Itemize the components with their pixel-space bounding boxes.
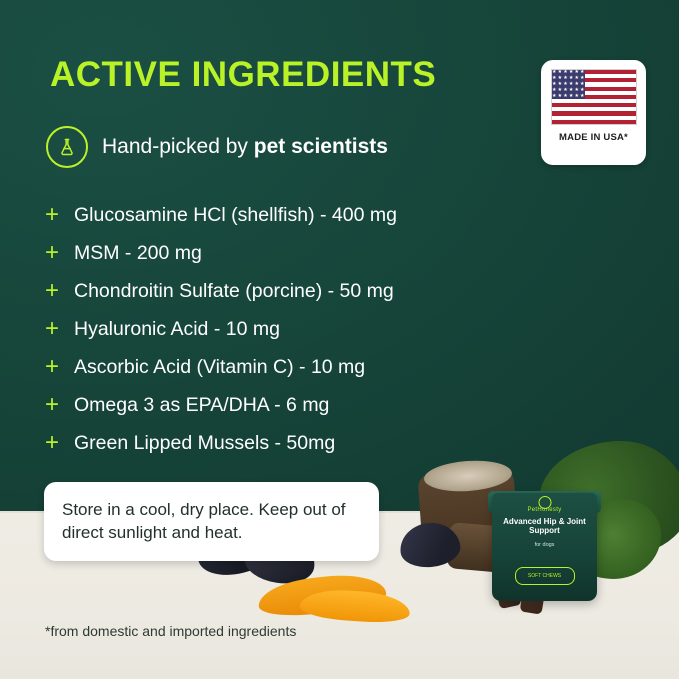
ingredient-text: Green Lipped Mussels - 50mg: [74, 432, 335, 455]
ingredient-text: Glucosamine HCl (shellfish) - 400 mg: [74, 204, 397, 227]
page-title: ACTIVE INGREDIENTS: [50, 55, 436, 95]
list-item: + Chondroitin Sulfate (porcine) - 50 mg: [44, 272, 604, 310]
jar-product-title: Advanced Hip & Joint Support: [492, 517, 597, 535]
plus-icon: +: [44, 241, 60, 265]
ingredient-text: Ascorbic Acid (Vitamin C) - 10 mg: [74, 356, 365, 379]
plus-icon: +: [44, 355, 60, 379]
ingredient-list: + Glucosamine HCl (shellfish) - 400 mg +…: [44, 196, 604, 462]
ingredient-text: MSM - 200 mg: [74, 242, 202, 265]
footnote-text: *from domestic and imported ingredients: [45, 623, 296, 639]
subtitle-text: Hand-picked by pet scientists: [102, 135, 388, 159]
storage-note-text: Store in a cool, dry place. Keep out of …: [62, 498, 361, 545]
product-jar: PetHonesty Advanced Hip & Joint Support …: [492, 493, 597, 601]
list-item: + Ascorbic Acid (Vitamin C) - 10 mg: [44, 348, 604, 386]
jar-brand-name: PetHonesty: [492, 507, 597, 513]
subtitle-emphasis: pet scientists: [254, 135, 388, 158]
subtitle-prefix: Hand-picked by: [102, 135, 254, 158]
list-item: + Glucosamine HCl (shellfish) - 400 mg: [44, 196, 604, 234]
plus-icon: +: [44, 431, 60, 455]
ingredient-text: Hyaluronic Acid - 10 mg: [74, 318, 280, 341]
ingredient-text: Omega 3 as EPA/DHA - 6 mg: [74, 394, 329, 417]
jar-form-badge: SOFT CHEWS: [515, 567, 575, 585]
subtitle-row: Hand-picked by pet scientists: [46, 126, 388, 168]
plus-icon: +: [44, 317, 60, 341]
plus-icon: +: [44, 203, 60, 227]
list-item: + MSM - 200 mg: [44, 234, 604, 272]
jar-product-subtitle: for dogs: [492, 542, 597, 548]
product-infographic: PetHonesty Advanced Hip & Joint Support …: [0, 0, 679, 679]
plus-icon: +: [44, 279, 60, 303]
storage-note-card: Store in a cool, dry place. Keep out of …: [44, 482, 379, 561]
made-in-usa-caption: MADE IN USA*: [559, 132, 628, 143]
list-item: + Omega 3 as EPA/DHA - 6 mg: [44, 386, 604, 424]
list-item: + Hyaluronic Acid - 10 mg: [44, 310, 604, 348]
made-in-usa-badge: ★★★★★★ ★★★★★★ ★★★★★★ ★★★★★★ ★★★★★★ MADE …: [541, 60, 646, 165]
ingredient-text: Chondroitin Sulfate (porcine) - 50 mg: [74, 280, 394, 303]
plus-icon: +: [44, 393, 60, 417]
orange-slice-image-2: [299, 587, 411, 625]
list-item: + Green Lipped Mussels - 50mg: [44, 424, 604, 462]
flask-icon: [46, 126, 88, 168]
usa-flag-icon: ★★★★★★ ★★★★★★ ★★★★★★ ★★★★★★ ★★★★★★: [551, 69, 637, 125]
